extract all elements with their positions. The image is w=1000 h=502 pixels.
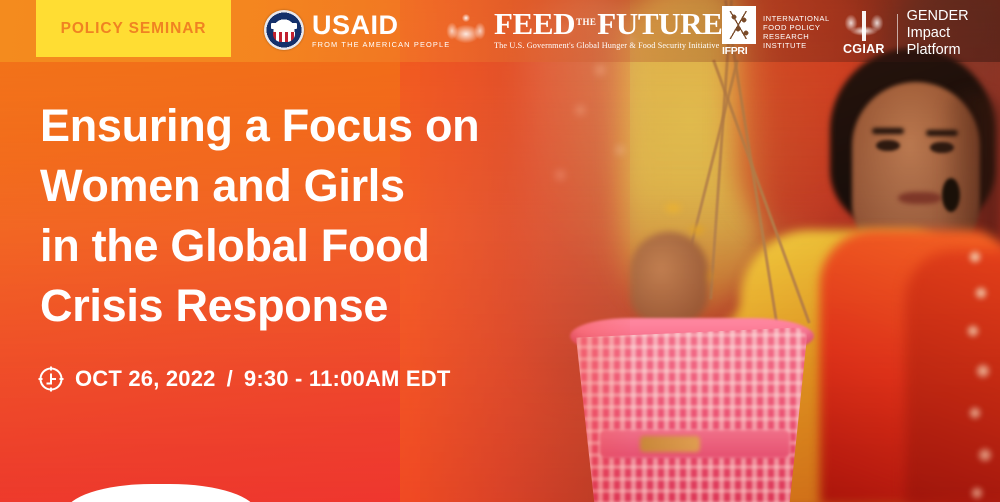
usaid-wordmark: USAID FROM THE AMERICAN PEOPLE xyxy=(312,12,450,48)
policy-seminar-banner: POLICY SEMINAR USAID FROM THE AMERICAN P… xyxy=(0,0,1000,502)
ftf-word-future: FUTURE xyxy=(597,8,722,39)
ifpri-line-3: RESEARCH xyxy=(763,32,830,41)
ifpri-fullname: INTERNATIONAL FOOD POLICY RESEARCH INSTI… xyxy=(763,14,830,51)
title-line-1: Ensuring a Focus on xyxy=(40,96,560,156)
usaid-wordmark-text: USAID xyxy=(312,12,450,39)
ifpri-acronym: IFPRI xyxy=(722,45,756,57)
cgiar-acronym: CGIAR xyxy=(840,42,888,56)
ifpri-mark-box xyxy=(722,6,756,44)
logo-divider xyxy=(897,14,898,54)
datetime-text: OCT 26, 2022 / 9:30 - 11:00AM EDT xyxy=(75,366,450,392)
ifpri-line-4: INSTITUTE xyxy=(763,41,830,50)
ftf-word-the: THE xyxy=(576,18,596,27)
title-line-4: Crisis Response xyxy=(40,276,560,336)
clock-icon xyxy=(38,366,64,392)
ifpri-line-2: FOOD POLICY xyxy=(763,23,830,32)
ftf-wordmark: FEED THE FUTURE The U.S. Government's Gl… xyxy=(494,8,722,50)
gender-line-1: GENDER Impact xyxy=(907,8,1000,42)
us-eagle-seal-icon xyxy=(444,7,488,51)
cgiar-block: CGIAR xyxy=(840,11,888,56)
event-date: OCT 26, 2022 xyxy=(75,366,216,392)
ftf-word-feed: FEED xyxy=(494,8,575,39)
logo-usaid: USAID FROM THE AMERICAN PEOPLE xyxy=(264,10,450,50)
logo-feed-the-future: FEED THE FUTURE The U.S. Government's Gl… xyxy=(444,7,722,51)
logo-cgiar-gender-impact-platform: CGIAR GENDER Impact Platform xyxy=(840,8,1000,59)
event-time: 9:30 - 11:00AM EDT xyxy=(244,366,451,392)
event-datetime: OCT 26, 2022 / 9:30 - 11:00AM EDT xyxy=(38,366,450,392)
ifpri-sprout-icon: IFPRI xyxy=(722,6,756,58)
title-line-2: Women and Girls xyxy=(40,156,560,216)
ifpri-line-1: INTERNATIONAL xyxy=(763,14,830,23)
ftf-main-line: FEED THE FUTURE xyxy=(494,8,722,39)
badge-label: POLICY SEMINAR xyxy=(61,20,207,38)
gender-impact-platform-wordmark: GENDER Impact Platform xyxy=(907,8,1000,59)
usaid-tagline: FROM THE AMERICAN PEOPLE xyxy=(312,41,450,48)
cgiar-emblem-icon xyxy=(842,11,886,41)
ftf-tagline: The U.S. Government's Global Hunger & Fo… xyxy=(494,42,722,50)
page-title: Ensuring a Focus on Women and Girls in t… xyxy=(40,96,560,335)
logo-ifpri: IFPRI INTERNATIONAL FOOD POLICY RESEARCH… xyxy=(722,6,830,58)
gender-line-2: Platform xyxy=(907,42,1000,59)
policy-seminar-badge: POLICY SEMINAR xyxy=(36,0,231,57)
usaid-seal-icon xyxy=(264,10,304,50)
datetime-separator: / xyxy=(216,366,244,392)
title-line-3: in the Global Food xyxy=(40,216,560,276)
